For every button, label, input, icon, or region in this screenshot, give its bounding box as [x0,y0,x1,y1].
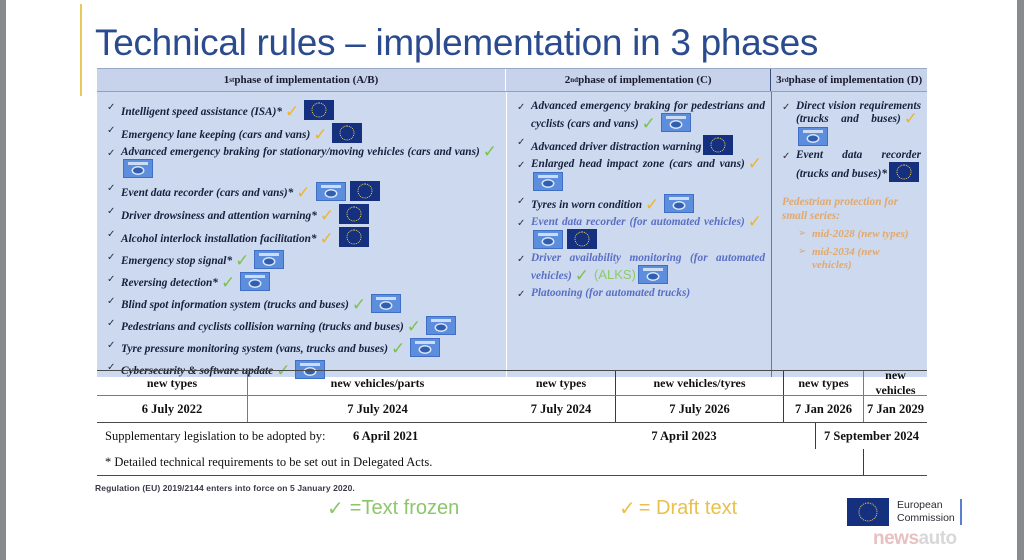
green-check-icon: ✓ [221,278,235,290]
checkmark-bullet-icon: ✓ [517,135,531,149]
requirement-text: Enlarged head impact zone (cars and vans… [531,158,765,190]
legend-text-frozen: ✓ =Text frozen [327,496,459,521]
ec-line-2: Commission [897,512,955,525]
dates-header-cell: new types [783,371,863,395]
unece-badge-icon [371,294,401,313]
requirement-item: ✓Tyres in worn condition✓ [517,194,765,213]
requirement-item: ✓Advanced emergency braking for pedestri… [517,100,765,132]
yellow-check-icon: ✓ [748,159,762,171]
phases-table: 1st phase of implementation (A/B) 2nd ph… [97,68,927,377]
slide-canvas: Technical rules – implementation in 3 ph… [7,0,1017,560]
requirement-text: Advanced emergency braking for pedestria… [531,100,765,132]
requirement-item: ✓Driver availability monitoring (for aut… [517,252,765,284]
requirement-item: ✓Event data recorder (cars and vans)*✓ [107,181,500,201]
requirement-text: Driver availability monitoring (for auto… [531,252,765,284]
dates-value-cell: 7 July 2024 [507,396,615,422]
european-commission-label: European Commission [897,499,962,525]
phase-3-ordinal-suffix: rd [782,76,789,84]
unece-badge-icon [254,250,284,269]
eu-flag-icon [339,204,369,224]
dates-value-cell: 7 July 2024 [247,396,507,422]
phase-2-header: 2nd phase of implementation (C) [505,69,770,91]
ec-line-1: European [897,499,955,512]
phase-3-column: ✓Direct vision requirements (trucks and … [771,92,927,377]
phase-3-header: 3rd phase of implementation (D) [770,69,927,91]
yellow-check-icon: ✓ [619,496,636,521]
requirement-item: ✓Enlarged head impact zone (cars and van… [517,158,765,190]
yellow-check-icon: ✓ [285,107,299,119]
yellow-check-icon: ✓ [645,200,659,212]
requirement-item: ✓Platooning (for automated trucks) [517,287,765,301]
legend-draft-label: = Draft text [639,497,737,520]
delegated-acts-footnote-text: * Detailed technical requirements to be … [105,455,432,470]
delegated-acts-footnote: * Detailed technical requirements to be … [97,449,927,476]
checkmark-bullet-icon: ✓ [107,146,121,160]
eu-flag-icon [567,229,597,249]
checkmark-bullet-icon: ✓ [782,100,796,114]
eu-flag-icon [350,181,380,201]
requirement-item: ✓Alcohol interlock installation facilita… [107,227,500,247]
phase-2-header-rest: phase of implementation (C) [578,74,712,86]
phase-1-header-rest: phase of implementation (A/B) [234,74,378,86]
phase-3-header-rest: phase of implementation (D) [789,74,923,86]
arrow-bullet-icon: ➢ [798,246,812,258]
checkmark-bullet-icon: ✓ [107,100,121,114]
green-check-icon: ✓ [327,496,344,521]
dates-value-cell: 7 July 2026 [615,396,783,422]
left-edge-border [0,0,6,560]
dates-header-cell: new types [97,371,247,395]
requirement-item: ✓Reversing detection*✓ [107,272,500,291]
right-edge-border [1017,0,1024,560]
requirement-text: Direct vision requirements (trucks and b… [796,100,921,146]
checkmark-bullet-icon: ✓ [517,216,531,230]
yellow-check-icon: ✓ [320,211,334,223]
pedestrian-protection-bullet: ➢mid-2028 (new types) [798,228,921,241]
yellow-check-icon: ✓ [313,130,327,142]
checkmark-bullet-icon: ✓ [782,149,796,163]
unece-badge-icon [426,316,456,335]
green-check-icon: ✓ [483,147,497,159]
requirement-item: ✓Tyre pressure monitoring system (vans, … [107,338,500,357]
legend-draft-text: ✓ = Draft text [619,496,737,521]
requirement-item: ✓Advanced emergency braking for stationa… [107,146,500,178]
requirement-item: ✓Advanced driver distraction warning [517,135,765,155]
yellow-check-icon: ✓ [296,188,310,200]
eu-flag-icon [304,100,334,120]
requirement-item: ✓Pedestrians and cyclists collision warn… [107,316,500,335]
checkmark-bullet-icon: ✓ [517,252,531,266]
phase-2-ordinal-suffix: nd [570,76,578,84]
arrow-bullet-icon: ➢ [798,228,812,240]
unece-badge-icon [533,230,563,249]
requirement-item: ✓Direct vision requirements (trucks and … [782,100,921,146]
pedestrian-protection-heading: Pedestrian protection for small series: [782,196,921,223]
pedestrian-protection-bullet-text: mid-2034 (new vehicles) [812,246,921,272]
requirement-text: Pedestrians and cyclists collision warni… [121,316,458,335]
green-check-icon: ✓ [352,300,366,312]
phase-1-header: 1st phase of implementation (A/B) [97,69,505,91]
dates-table: new types new vehicles/parts new types n… [97,370,927,476]
checkmark-bullet-icon: ✓ [107,338,121,352]
requirement-text: Emergency stop signal*✓ [121,250,286,269]
checkmark-bullet-icon: ✓ [107,294,121,308]
title-accent-bar [80,4,82,96]
requirement-text: Driver drowsiness and attention warning*… [121,204,371,224]
checkmark-bullet-icon: ✓ [517,287,531,301]
footnote-vertical-separator [863,449,864,475]
unece-badge-icon [410,338,440,357]
dates-value-cell: 7 Jan 2029 [863,396,927,422]
dates-header-cell: new vehicles/tyres [615,371,783,395]
requirement-item: ✓Driver drowsiness and attention warning… [107,204,500,224]
eu-flag-icon [339,227,369,247]
unece-badge-icon [123,159,153,178]
newsauto-watermark: newsauto [873,528,957,550]
dates-header-cell: new types [507,371,615,395]
requirement-text: Event data recorder (for automated vehic… [531,216,765,249]
green-check-icon: ✓ [575,271,589,283]
unece-badge-icon [533,172,563,191]
checkmark-bullet-icon: ✓ [107,316,121,330]
supplementary-legislation-row: Supplementary legislation to be adopted … [97,423,927,449]
requirement-item: ✓Intelligent speed assistance (ISA)*✓ [107,100,500,120]
checkmark-bullet-icon: ✓ [517,100,531,114]
phases-body-row: ✓Intelligent speed assistance (ISA)*✓✓Em… [97,92,927,377]
green-check-icon: ✓ [235,256,249,268]
requirement-text: Advanced emergency braking for stationar… [121,146,500,178]
requirement-text: Emergency lane keeping (cars and vans)✓ [121,123,364,143]
phase-1-column: ✓Intelligent speed assistance (ISA)*✓✓Em… [97,92,506,377]
unece-badge-icon [798,127,828,146]
requirement-text: Alcohol interlock installation facilitat… [121,227,371,247]
legend-frozen-label: =Text frozen [350,497,460,520]
requirement-item: ✓Event data recorder (trucks and buses)* [782,149,921,182]
page-title: Technical rules – implementation in 3 ph… [95,22,975,64]
phase-2-column: ✓Advanced emergency braking for pedestri… [506,92,771,377]
checkmark-bullet-icon: ✓ [107,123,121,137]
checkmark-bullet-icon: ✓ [107,204,121,218]
checkmark-bullet-icon: ✓ [517,194,531,208]
requirement-text: Intelligent speed assistance (ISA)*✓ [121,100,336,120]
dates-header-row: new types new vehicles/parts new types n… [97,371,927,396]
phases-header-row: 1st phase of implementation (A/B) 2nd ph… [97,68,927,92]
green-check-icon: ✓ [391,344,405,356]
alks-note: (ALKS) [594,267,636,282]
dates-value-cell: 7 Jan 2026 [783,396,863,422]
checkmark-bullet-icon: ✓ [107,272,121,286]
watermark-part-1: news [873,528,919,549]
unece-badge-icon [661,113,691,132]
dates-value-cell: 6 July 2022 [97,396,247,422]
unece-badge-icon [664,194,694,213]
european-commission-logo: European Commission [847,498,962,526]
requirement-text: Tyre pressure monitoring system (vans, t… [121,338,442,357]
requirement-text: Reversing detection*✓ [121,272,272,291]
requirement-text: Advanced driver distraction warning [531,135,735,155]
unece-badge-icon [316,182,346,201]
checkmark-bullet-icon: ✓ [107,250,121,264]
dates-value-row: 6 July 2022 7 July 2024 7 July 2024 7 Ju… [97,396,927,423]
supplementary-date-1: 6 April 2021 [353,429,553,444]
eu-flag-icon [889,162,919,182]
requirement-item: ✓Emergency lane keeping (cars and vans)✓ [107,123,500,143]
requirement-item: ✓Emergency stop signal*✓ [107,250,500,269]
checkmark-bullet-icon: ✓ [107,227,121,241]
eu-flag-icon [847,498,889,526]
green-check-icon: ✓ [642,119,656,131]
eu-flag-icon [332,123,362,143]
pedestrian-protection-bullet-text: mid-2028 (new types) [812,228,909,241]
checkmark-bullet-icon: ✓ [107,181,121,195]
requirement-item: ✓Event data recorder (for automated vehi… [517,216,765,249]
watermark-part-2: auto [919,528,957,549]
requirement-text: Event data recorder (cars and vans)*✓ [121,181,382,201]
requirement-text: Tyres in worn condition✓ [531,194,696,213]
yellow-check-icon: ✓ [320,234,334,246]
checkmark-bullet-icon: ✓ [517,158,531,172]
unece-badge-icon [638,265,668,284]
green-check-icon: ✓ [407,322,421,334]
unece-badge-icon [240,272,270,291]
dates-header-cell: new vehicles/parts [247,371,507,395]
pedestrian-protection-bullet: ➢mid-2034 (new vehicles) [798,246,921,272]
yellow-check-icon: ✓ [748,217,762,229]
supplementary-date-2: 7 April 2023 [553,429,815,444]
supplementary-label: Supplementary legislation to be adopted … [97,429,353,444]
requirement-text: Platooning (for automated trucks) [531,287,690,300]
regulation-note: Regulation (EU) 2019/2144 enters into fo… [95,483,355,493]
supplementary-date-3: 7 September 2024 [815,423,927,449]
eu-flag-icon [703,135,733,155]
yellow-check-icon: ✓ [904,114,918,126]
requirement-text: Blind spot information system (trucks an… [121,294,403,313]
requirement-item: ✓Blind spot information system (trucks a… [107,294,500,313]
dates-header-cell: new vehicles [863,371,927,395]
requirement-text: Event data recorder (trucks and buses)* [796,149,921,182]
